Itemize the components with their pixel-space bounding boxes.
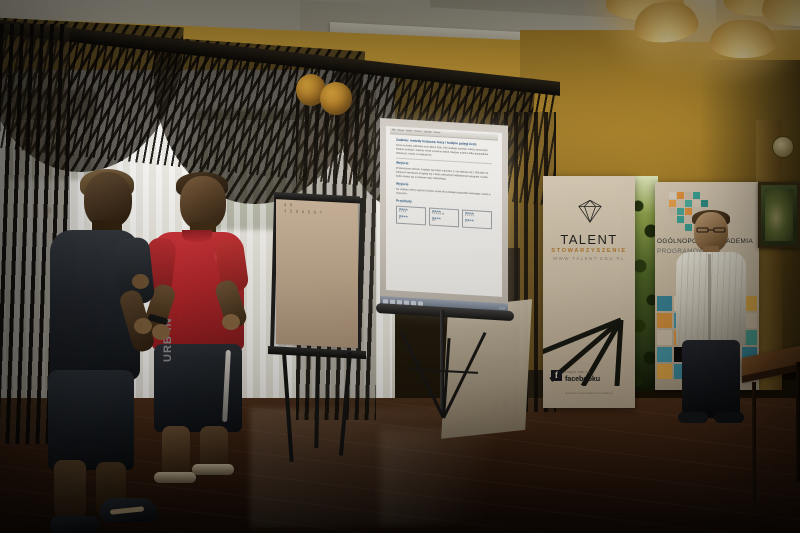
- example-in-value: 5 2 4 6 8 10: [432, 213, 444, 216]
- lamp-shade-icon: [710, 20, 776, 58]
- sandal: [192, 464, 234, 475]
- picture-artwork: [765, 189, 793, 241]
- person-right-shoe: [678, 412, 708, 423]
- banner-talent: TALENT STOWARZYSZENIE WWW.TALENT.EDU.PL …: [543, 176, 635, 408]
- document-body: Zadanie: metody liczbowe, bazy i kolejne…: [390, 134, 498, 229]
- person-right-shirt-placket: [708, 254, 711, 344]
- person-left-hand: [134, 318, 152, 334]
- banner-social-url: facebook.com/stowarzyszenietalent: [565, 392, 613, 395]
- person-right-shoe: [714, 412, 744, 423]
- banner-talent-title: TALENT: [543, 232, 635, 247]
- example-out-label: Wyjście: [399, 215, 423, 220]
- person-left-hand: [132, 274, 149, 289]
- table-leg: [796, 362, 800, 482]
- example-out-label: Wyjście: [432, 217, 456, 222]
- example-in-value: 4 1 1 2 3: [465, 215, 474, 218]
- banner-social-big: facebooku: [565, 374, 600, 383]
- person-left-shorts: [48, 370, 134, 470]
- glasses-icon: [696, 227, 726, 233]
- person-left-shoe: [50, 516, 100, 533]
- examples-table-group: Wejście 3 1 2 3 Wyjście 6 Wejście 5 2 4 …: [396, 205, 492, 229]
- projection-screen-unit: Plik Edycja Widok Historia Zakładki Pomo…: [372, 118, 512, 418]
- balloon: [320, 82, 352, 115]
- example-cell: Wejście 5 2 4 6 8 10 Wyjście 30: [429, 207, 459, 227]
- banner-talent-url: WWW.TALENT.EDU.PL: [543, 256, 635, 261]
- menu-item-plik[interactable]: Plik: [392, 129, 396, 133]
- lamp-shade-icon: [762, 0, 800, 26]
- flipchart-leg: [339, 352, 352, 456]
- example-cell: Wejście 4 1 1 2 3 Wyjście 7: [462, 209, 492, 229]
- example-cell: Wejście 3 1 2 3 Wyjście 6: [396, 205, 426, 225]
- menu-item-pomoc[interactable]: Pomoc: [434, 132, 441, 136]
- photo-scene: Plik Edycja Widok Historia Zakładki Pomo…: [0, 0, 800, 533]
- ceiling-chandelier: [612, 0, 800, 56]
- flipchart-leg: [314, 352, 320, 448]
- person-left: [40, 172, 170, 533]
- flipchart-leg: [282, 352, 294, 462]
- diamond-icon: [576, 198, 604, 224]
- example-out-value: 30: [432, 220, 435, 222]
- tripod-leg: [401, 332, 445, 419]
- flipchart-writing: 4 5 1 2 3 4 5 6 7: [284, 202, 350, 229]
- person-center-collar: [182, 230, 212, 242]
- example-out-label: Wyjście: [465, 219, 489, 224]
- menu-item-edycja[interactable]: Edycja: [398, 130, 405, 134]
- floor-reflection-2: [380, 430, 530, 525]
- framed-picture: [758, 182, 800, 248]
- example-out-value: 6: [399, 218, 400, 220]
- table-leg: [752, 382, 756, 500]
- person-center-hand: [222, 314, 240, 330]
- person-right: [670, 212, 750, 427]
- example-in-value: 3 1 2 3: [399, 211, 406, 213]
- banner-social-block: f znajdź nas na facebooku facebook.com/s…: [551, 370, 627, 400]
- menu-item-zakladki[interactable]: Zakładki: [424, 131, 432, 135]
- projected-document: Plik Edycja Widok Historia Zakładki Pomo…: [386, 126, 502, 297]
- facebook-icon: f: [551, 370, 562, 381]
- flipchart-easel: 4 5 1 2 3 4 5 6 7: [262, 182, 374, 472]
- person-right-trousers: [682, 340, 740, 418]
- menu-item-historia[interactable]: Historia: [414, 131, 421, 135]
- person-left-leg: [54, 460, 86, 518]
- wall-clock: [772, 136, 794, 158]
- screen-backing-panel: [441, 299, 532, 439]
- banner-talent-subtitle: STOWARZYSZENIE: [543, 248, 635, 254]
- person-right-shirt-stripes: [676, 252, 746, 346]
- example-out-value: 7: [465, 222, 466, 224]
- menu-item-widok[interactable]: Widok: [406, 130, 412, 134]
